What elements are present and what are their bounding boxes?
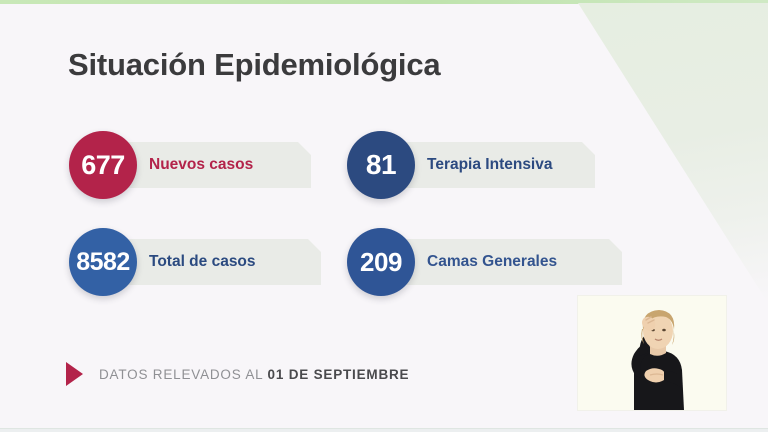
presentation-slide: Situación Epidemiológica Nuevos casos 67… [0, 0, 768, 432]
stat-value: 209 [360, 249, 402, 275]
footer-date: 01 DE SEPTIEMBRE [268, 367, 410, 382]
interpreter-figure [578, 296, 726, 410]
sign-language-interpreter-panel [578, 296, 726, 410]
footer-text: DATOS RELEVADOS AL 01 DE SEPTIEMBRE [99, 367, 409, 382]
stat-bubble: 81 [347, 131, 415, 199]
page-title: Situación Epidemiológica [68, 47, 440, 83]
stat-bubble: 209 [347, 228, 415, 296]
stat-value: 81 [366, 151, 396, 179]
stat-value: 8582 [76, 250, 130, 275]
triangle-right-icon [66, 362, 83, 386]
stat-label: Terapia Intensiva [427, 156, 552, 174]
footer-datos-relevados: DATOS RELEVADOS AL 01 DE SEPTIEMBRE [66, 362, 409, 386]
stat-value: 677 [81, 152, 125, 179]
stat-label: Total de casos [149, 253, 256, 271]
stat-label: Nuevos casos [149, 156, 253, 174]
stat-label: Camas Generales [427, 253, 557, 271]
footer-prefix: DATOS RELEVADOS AL [99, 367, 263, 382]
stat-bubble: 677 [69, 131, 137, 199]
stat-banner: Camas Generales [381, 239, 622, 285]
stat-bubble: 8582 [69, 228, 137, 296]
